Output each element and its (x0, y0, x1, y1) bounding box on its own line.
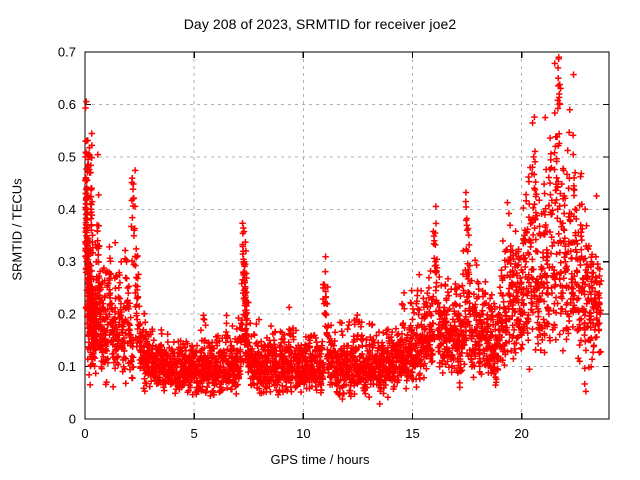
data-point-marker (555, 75, 561, 81)
data-point-marker (541, 181, 547, 187)
data-point-marker (507, 222, 513, 228)
data-point-marker (319, 338, 325, 344)
data-point-marker (112, 365, 118, 371)
data-point-marker (322, 268, 328, 274)
data-point-marker (344, 326, 350, 332)
data-point-marker (578, 170, 584, 176)
data-point-marker (555, 231, 561, 237)
data-point-marker (433, 284, 439, 290)
data-point-marker (89, 130, 95, 136)
data-point-marker (571, 175, 577, 181)
data-point-marker (165, 339, 171, 345)
data-point-marker (433, 220, 439, 226)
data-point-marker (551, 150, 557, 156)
data-point-marker (134, 316, 140, 322)
data-point-marker (164, 331, 170, 337)
data-point-marker (403, 385, 409, 391)
data-point-marker (529, 120, 535, 126)
data-point-marker (558, 259, 564, 265)
data-point-marker (440, 370, 446, 376)
data-point-marker (583, 388, 589, 394)
data-point-marker (597, 349, 603, 355)
data-point-marker (500, 238, 506, 244)
data-point-marker (198, 327, 204, 333)
data-point-marker (233, 391, 239, 397)
data-point-marker (583, 347, 589, 353)
data-point-marker (536, 197, 542, 203)
data-point-marker (532, 159, 538, 165)
data-point-marker (416, 271, 422, 277)
data-point-marker (268, 323, 274, 329)
data-point-marker (547, 191, 553, 197)
data-point-marker (547, 135, 553, 141)
data-point-marker (561, 202, 567, 208)
data-point-marker (553, 197, 559, 203)
data-point-marker (151, 337, 157, 343)
data-point-marker (134, 275, 140, 281)
data-point-marker (122, 275, 128, 281)
data-point-marker (523, 198, 529, 204)
data-point-marker (106, 244, 112, 250)
data-point-marker (553, 337, 559, 343)
data-point-marker (131, 233, 137, 239)
data-point-marker (591, 342, 597, 348)
data-point-marker (519, 341, 525, 347)
data-point-marker (561, 275, 567, 281)
data-point-marker (565, 147, 571, 153)
data-point-marker (132, 167, 138, 173)
data-point-marker (202, 322, 208, 328)
data-point-marker (573, 207, 579, 213)
data-point-marker (562, 259, 568, 265)
y-tick-label: 0.4 (58, 202, 76, 217)
x-tick-label: 5 (191, 426, 198, 441)
data-point-marker (141, 311, 147, 317)
data-point-marker (377, 401, 383, 407)
data-point-marker (511, 327, 517, 333)
data-point-marker (572, 170, 578, 176)
data-point-marker (506, 210, 512, 216)
data-point-marker (532, 148, 538, 154)
y-tick-label: 0.5 (58, 149, 76, 164)
data-point-marker (583, 222, 589, 228)
data-point-marker (452, 281, 458, 287)
data-point-marker (112, 240, 118, 246)
y-tick-label: 0 (69, 412, 76, 427)
data-point-marker (567, 107, 573, 113)
data-point-marker (500, 299, 506, 305)
data-point-marker (531, 201, 537, 207)
data-point-marker (553, 294, 559, 300)
data-point-marker (359, 332, 365, 338)
data-point-marker (596, 327, 602, 333)
data-point-marker (116, 285, 122, 291)
data-point-marker (590, 349, 596, 355)
y-tick-label: 0.6 (58, 97, 76, 112)
data-point-marker (95, 252, 101, 258)
data-point-marker (577, 173, 583, 179)
data-point-marker (541, 190, 547, 196)
data-point-marker (557, 81, 563, 87)
data-point-marker (594, 334, 600, 340)
data-point-marker (122, 247, 128, 253)
data-point-marker (110, 384, 116, 390)
data-point-marker (555, 65, 561, 71)
data-point-marker (560, 347, 566, 353)
data-point-marker (548, 151, 554, 157)
data-point-marker (497, 284, 503, 290)
data-point-marker (239, 220, 245, 226)
data-point-marker (529, 326, 535, 332)
data-point-marker (554, 300, 560, 306)
data-point-marker (267, 389, 273, 395)
data-point-marker (159, 331, 165, 337)
data-point-marker (194, 342, 200, 348)
data-point-marker (512, 228, 518, 234)
data-point-marker (240, 225, 246, 231)
data-point-marker (464, 222, 470, 228)
data-point-marker (417, 376, 423, 382)
data-point-marker (88, 215, 94, 221)
data-point-marker (433, 203, 439, 209)
data-point-marker (577, 262, 583, 268)
data-point-marker (129, 214, 135, 220)
data-point-marker (578, 316, 584, 322)
data-point-marker (535, 340, 541, 346)
data-point-marker (313, 339, 319, 345)
data-point-marker (322, 254, 328, 260)
x-tick-label: 0 (81, 426, 88, 441)
data-point-marker (546, 174, 552, 180)
data-point-marker (87, 382, 93, 388)
data-point-marker (82, 105, 88, 111)
data-point-marker (401, 290, 407, 296)
x-axis-label: GPS time / hours (0, 452, 640, 467)
data-point-marker (86, 372, 92, 378)
data-point-marker (570, 71, 576, 77)
data-point-marker (582, 381, 588, 387)
data-point-marker (552, 60, 558, 66)
x-tick-label: 15 (405, 426, 419, 441)
x-tick-label: 10 (296, 426, 310, 441)
data-point-marker (582, 206, 588, 212)
data-point-marker (578, 337, 584, 343)
data-point-marker (339, 328, 345, 334)
data-point-marker (549, 290, 555, 296)
data-point-marker (571, 192, 577, 198)
data-point-marker (426, 274, 432, 280)
data-point-marker (589, 356, 595, 362)
data-point-marker (332, 329, 338, 335)
data-point-marker (504, 199, 510, 205)
data-point-marker (94, 228, 100, 234)
data-point-marker (432, 242, 438, 248)
data-point-marker (288, 388, 294, 394)
data-point-marker (470, 374, 476, 380)
data-point-marker (123, 380, 129, 386)
data-point-marker (525, 337, 531, 343)
data-point-marker (93, 370, 99, 376)
data-point-marker (542, 212, 548, 218)
data-point-marker (408, 287, 414, 293)
data-point-marker (431, 233, 437, 239)
data-point-marker (366, 394, 372, 400)
data-point-marker (125, 290, 131, 296)
data-point-marker (339, 332, 345, 338)
plot-canvas: 00.10.20.30.40.50.60.705101520 (0, 0, 640, 480)
y-tick-label: 0.3 (58, 254, 76, 269)
data-point-marker (413, 384, 419, 390)
data-point-marker (445, 276, 451, 282)
data-point-marker (542, 114, 548, 120)
data-point-marker (563, 336, 569, 342)
y-tick-label: 0.7 (58, 45, 76, 60)
data-point-marker (223, 329, 229, 335)
data-point-marker (566, 318, 572, 324)
data-point-marker (523, 191, 529, 197)
data-point-marker (531, 114, 537, 120)
data-point-marker (530, 154, 536, 160)
data-point-marker (552, 110, 558, 116)
data-point-marker (463, 189, 469, 195)
data-point-marker (95, 192, 101, 198)
chart-container: Day 208 of 2023, SRMTID for receiver joe… (0, 0, 640, 480)
data-point-marker (428, 359, 434, 365)
y-tick-label: 0.1 (58, 359, 76, 374)
data-point-marker (526, 178, 532, 184)
data-point-marker (172, 390, 178, 396)
data-point-marker (548, 250, 554, 256)
data-point-marker (520, 205, 526, 211)
data-point-marker (133, 254, 139, 260)
data-point-marker (286, 304, 292, 310)
data-point-marker (385, 394, 391, 400)
data-point-marker (482, 279, 488, 285)
data-point-marker (229, 323, 235, 329)
data-point-marker (223, 320, 229, 326)
x-tick-label: 20 (514, 426, 528, 441)
data-point-marker (445, 289, 451, 295)
data-point-marker (576, 342, 582, 348)
data-point-marker (498, 267, 504, 273)
data-point-marker (409, 316, 415, 322)
data-point-marker (247, 320, 253, 326)
data-point-marker (117, 279, 123, 285)
data-point-marker (129, 375, 135, 381)
data-point-marker (574, 241, 580, 247)
data-series-srmtid (82, 54, 604, 407)
data-point-marker (133, 246, 139, 252)
data-point-marker (532, 179, 538, 185)
data-point-marker (572, 206, 578, 212)
data-point-marker (548, 157, 554, 163)
data-point-marker (518, 346, 524, 352)
data-point-marker (418, 288, 424, 294)
data-point-marker (456, 380, 462, 386)
data-point-marker (89, 232, 95, 238)
y-tick-label: 0.2 (58, 307, 76, 322)
data-point-marker (362, 390, 368, 396)
data-point-marker (200, 316, 206, 322)
data-point-marker (557, 331, 563, 337)
data-point-marker (510, 355, 516, 361)
data-point-marker (223, 312, 229, 318)
data-point-marker (547, 180, 553, 186)
data-point-marker (593, 193, 599, 199)
